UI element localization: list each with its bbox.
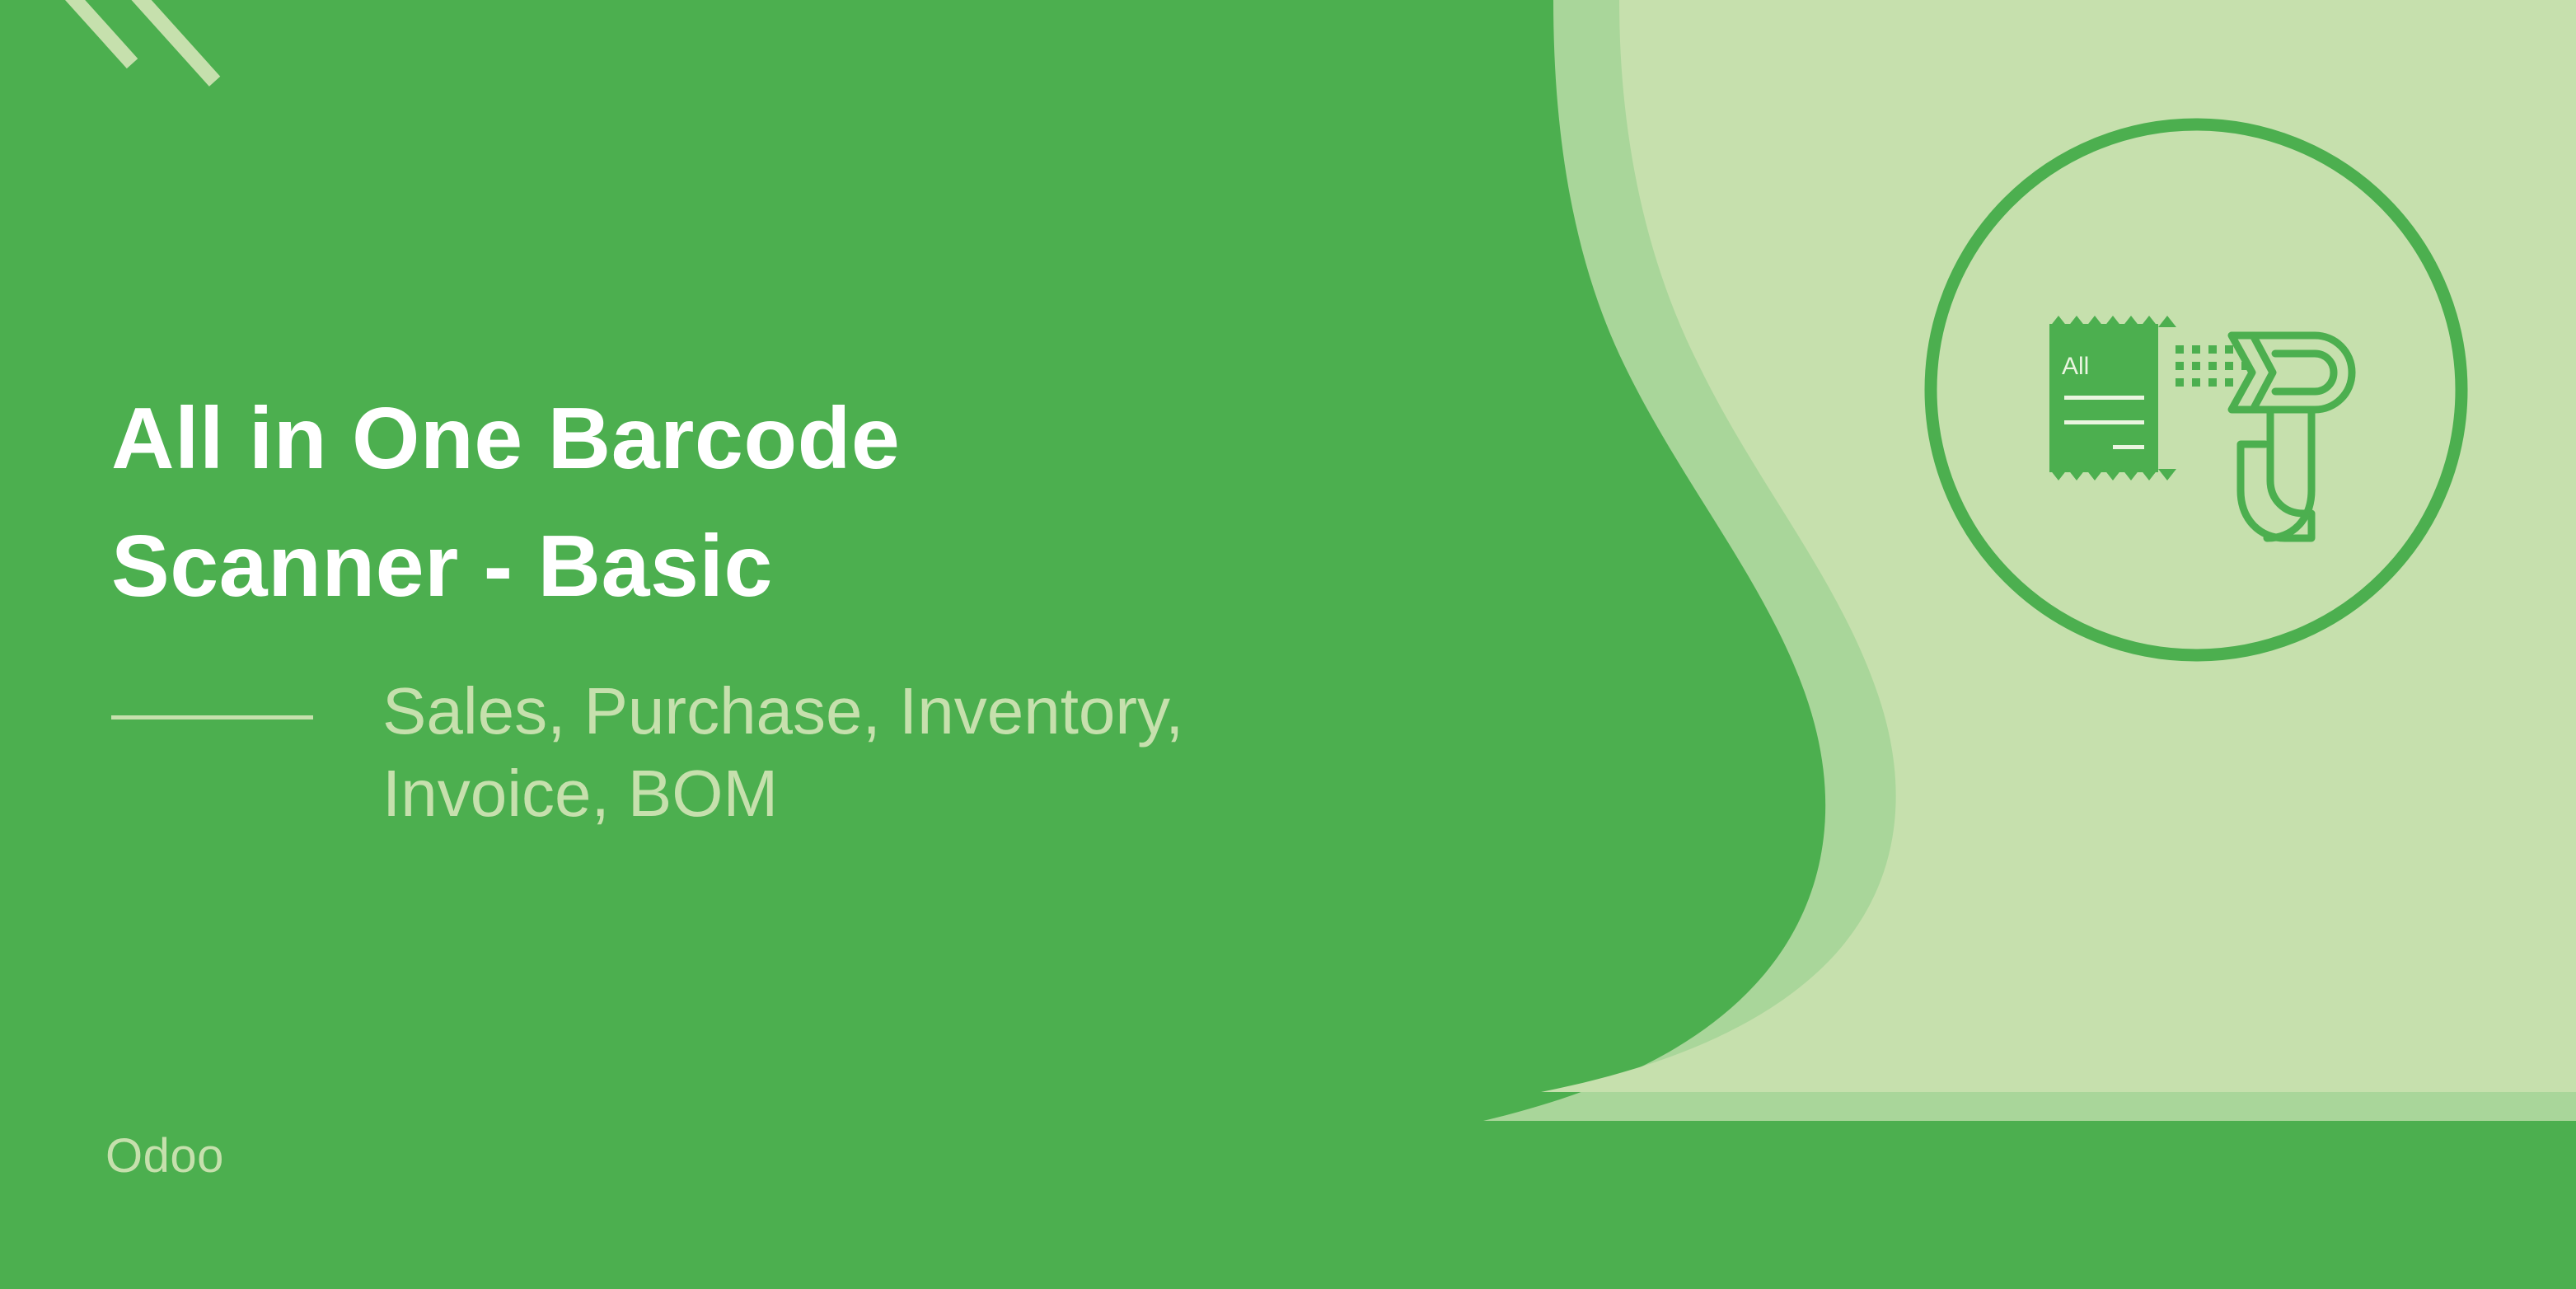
icon-badge-svg: All bbox=[1924, 118, 2468, 662]
receipt-icon: All bbox=[2049, 316, 2176, 480]
banner-subtitle: Sales, Purchase, Inventory, Invoice, BOM bbox=[382, 670, 1183, 837]
subtitle-row: Sales, Purchase, Inventory, Invoice, BOM bbox=[111, 670, 1677, 837]
icon-badge: All bbox=[1924, 118, 2468, 662]
subtitle-dash-rule bbox=[111, 715, 313, 719]
promo-banner: All in One Barcode Scanner - Basic Sales… bbox=[0, 0, 2576, 1289]
circle-ring-icon bbox=[1931, 124, 2461, 655]
page-title: All in One Barcode Scanner - Basic bbox=[111, 375, 1677, 630]
banner-text-block: All in One Barcode Scanner - Basic Sales… bbox=[111, 375, 1677, 836]
brand-name: Odoo bbox=[105, 1132, 224, 1180]
barcode-scanner-icon bbox=[2232, 335, 2352, 538]
receipt-label-text: All bbox=[2062, 353, 2089, 380]
